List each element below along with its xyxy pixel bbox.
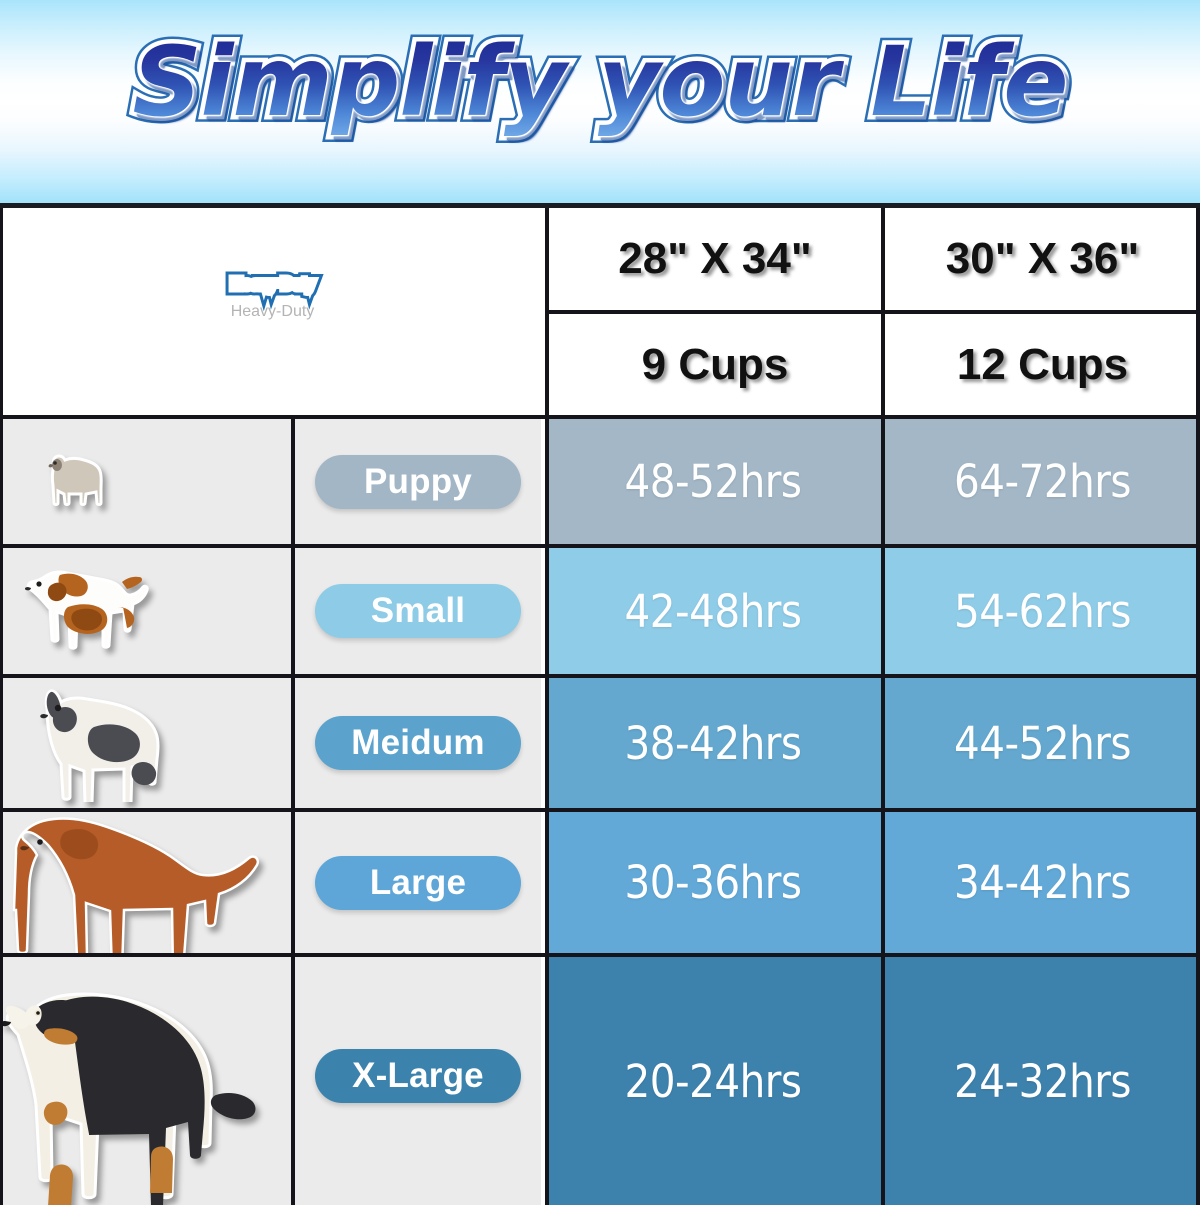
duration-value: 44-52hrs [954,717,1131,770]
duration-cell: 34-42hrs [885,812,1200,953]
size-pill-label: Puppy [364,462,472,502]
duration-value: 38-42hrs [624,717,801,770]
size-pill-medium[interactable]: Meidum [315,716,521,770]
duration-cell: 54-62hrs [885,548,1200,674]
banner: Simplify your Life Simplify your Life Si… [0,0,1200,203]
grid-line-v [545,208,549,1205]
size-label-cell: Small [295,548,541,674]
page-title: Simplify your Life [0,30,1200,136]
dog-illustration-cell [0,678,291,808]
size-pill-label: X-Large [352,1056,484,1096]
bernese-mountain-dog-icon [0,977,286,1205]
grid-line-h [0,953,1200,957]
size-chart-table: Heavy-Duty Heavy-Duty Heavy-Duty 28" X 3… [0,203,1200,1200]
duration-value: 24-32hrs [954,1055,1131,1108]
heavy-duty-label: Heavy-Duty Heavy-Duty Heavy-Duty [231,276,315,348]
duration-cell: 44-52hrs [885,678,1200,808]
dog-illustration-cell [0,548,291,674]
size-pill-label: Meidum [351,723,484,763]
corner-header-cell: Heavy-Duty Heavy-Duty Heavy-Duty [0,208,545,415]
size-pill-label: Large [370,863,466,903]
duration-cell: 64-72hrs [885,419,1200,544]
size-label-cell: Puppy [295,419,541,544]
size-pill-label: Small [371,591,465,631]
column-header-size-2: 30" X 36" [885,208,1200,310]
duration-cell: 38-42hrs [545,678,881,808]
column-header-capacity-1: 9 Cups [549,314,881,415]
pug-puppy-icon [42,451,112,513]
duration-value: 54-62hrs [954,585,1131,638]
heavy-duty-fill: Heavy-Duty [231,303,315,321]
duration-value: 20-24hrs [624,1055,801,1108]
grid-line-h [0,808,1200,812]
grid-line-v [291,415,295,1205]
size-pill-xlarge[interactable]: X-Large [315,1049,521,1103]
duration-value: 34-42hrs [954,856,1131,909]
grid-line-h [549,310,1200,314]
duration-value: 30-36hrs [624,856,801,909]
duration-cell: 30-36hrs [545,812,881,953]
size-pill-small[interactable]: Small [315,584,521,638]
duration-value: 42-48hrs [624,585,801,638]
size-label-cell: Meidum [295,678,541,808]
duration-value: 48-52hrs [624,455,801,508]
duration-cell: 48-52hrs [545,419,881,544]
size-label-cell: Large [295,812,541,953]
duration-value: 64-72hrs [954,455,1131,508]
size-label-cell: X-Large [295,957,541,1205]
french-bulldog-icon [22,687,177,802]
duration-cell: 24-32hrs [885,957,1200,1205]
grid-line-h [0,544,1200,548]
grid-line-v [1196,208,1200,1205]
grid-line-v [0,208,3,1205]
grid-line-h [0,415,1200,419]
beagle-icon [22,562,152,662]
size-pill-large[interactable]: Large [315,856,521,910]
heavy-duty-white-stroke: Heavy-Duty [231,276,315,294]
dog-illustration-cell [0,957,291,1205]
dog-illustration-cell [0,812,291,953]
column-header-size-1: 28" X 34" [549,208,881,310]
duration-cell: 20-24hrs [545,957,881,1205]
dog-illustration-cell [0,419,291,544]
grid-line-h [0,674,1200,678]
duration-cell: 42-48hrs [545,548,881,674]
column-header-capacity-2: 12 Cups [885,314,1200,415]
golden-retriever-icon [8,812,291,953]
grid-line-v [881,208,885,1205]
size-pill-puppy[interactable]: Puppy [315,455,521,509]
